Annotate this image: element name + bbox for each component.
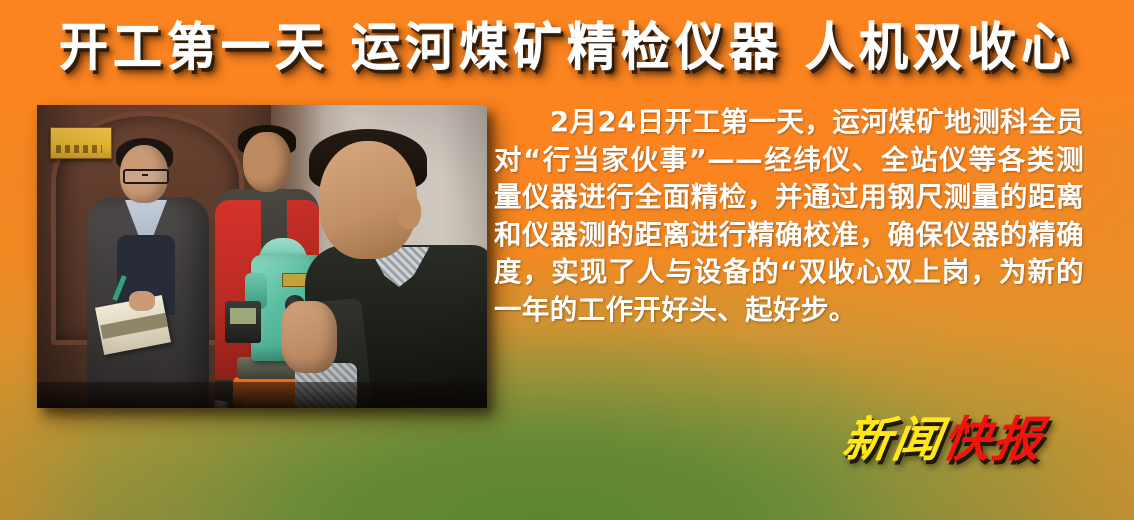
article-text: 2月24日开工第一天，运河煤矿地测科全员对“行当家伙事”——经纬仪、全站仪等各类… <box>494 104 1084 329</box>
news-photo <box>37 105 487 408</box>
news-banner: 开工第一天 运河煤矿精检仪器 人机双收心 <box>0 0 1134 520</box>
photo-vignette <box>37 105 487 408</box>
status-badge: 新闻快报 <box>839 412 1048 468</box>
photo-illustration <box>37 105 487 408</box>
page-title: 开工第一天 运河煤矿精检仪器 人机双收心 <box>0 14 1134 82</box>
article-body: 2月24日开工第一天，运河煤矿地测科全员对“行当家伙事”——经纬仪、全站仪等各类… <box>494 106 1084 326</box>
badge-text-red: 快报 <box>939 412 1048 468</box>
badge-text-yellow: 新闻 <box>839 412 948 468</box>
